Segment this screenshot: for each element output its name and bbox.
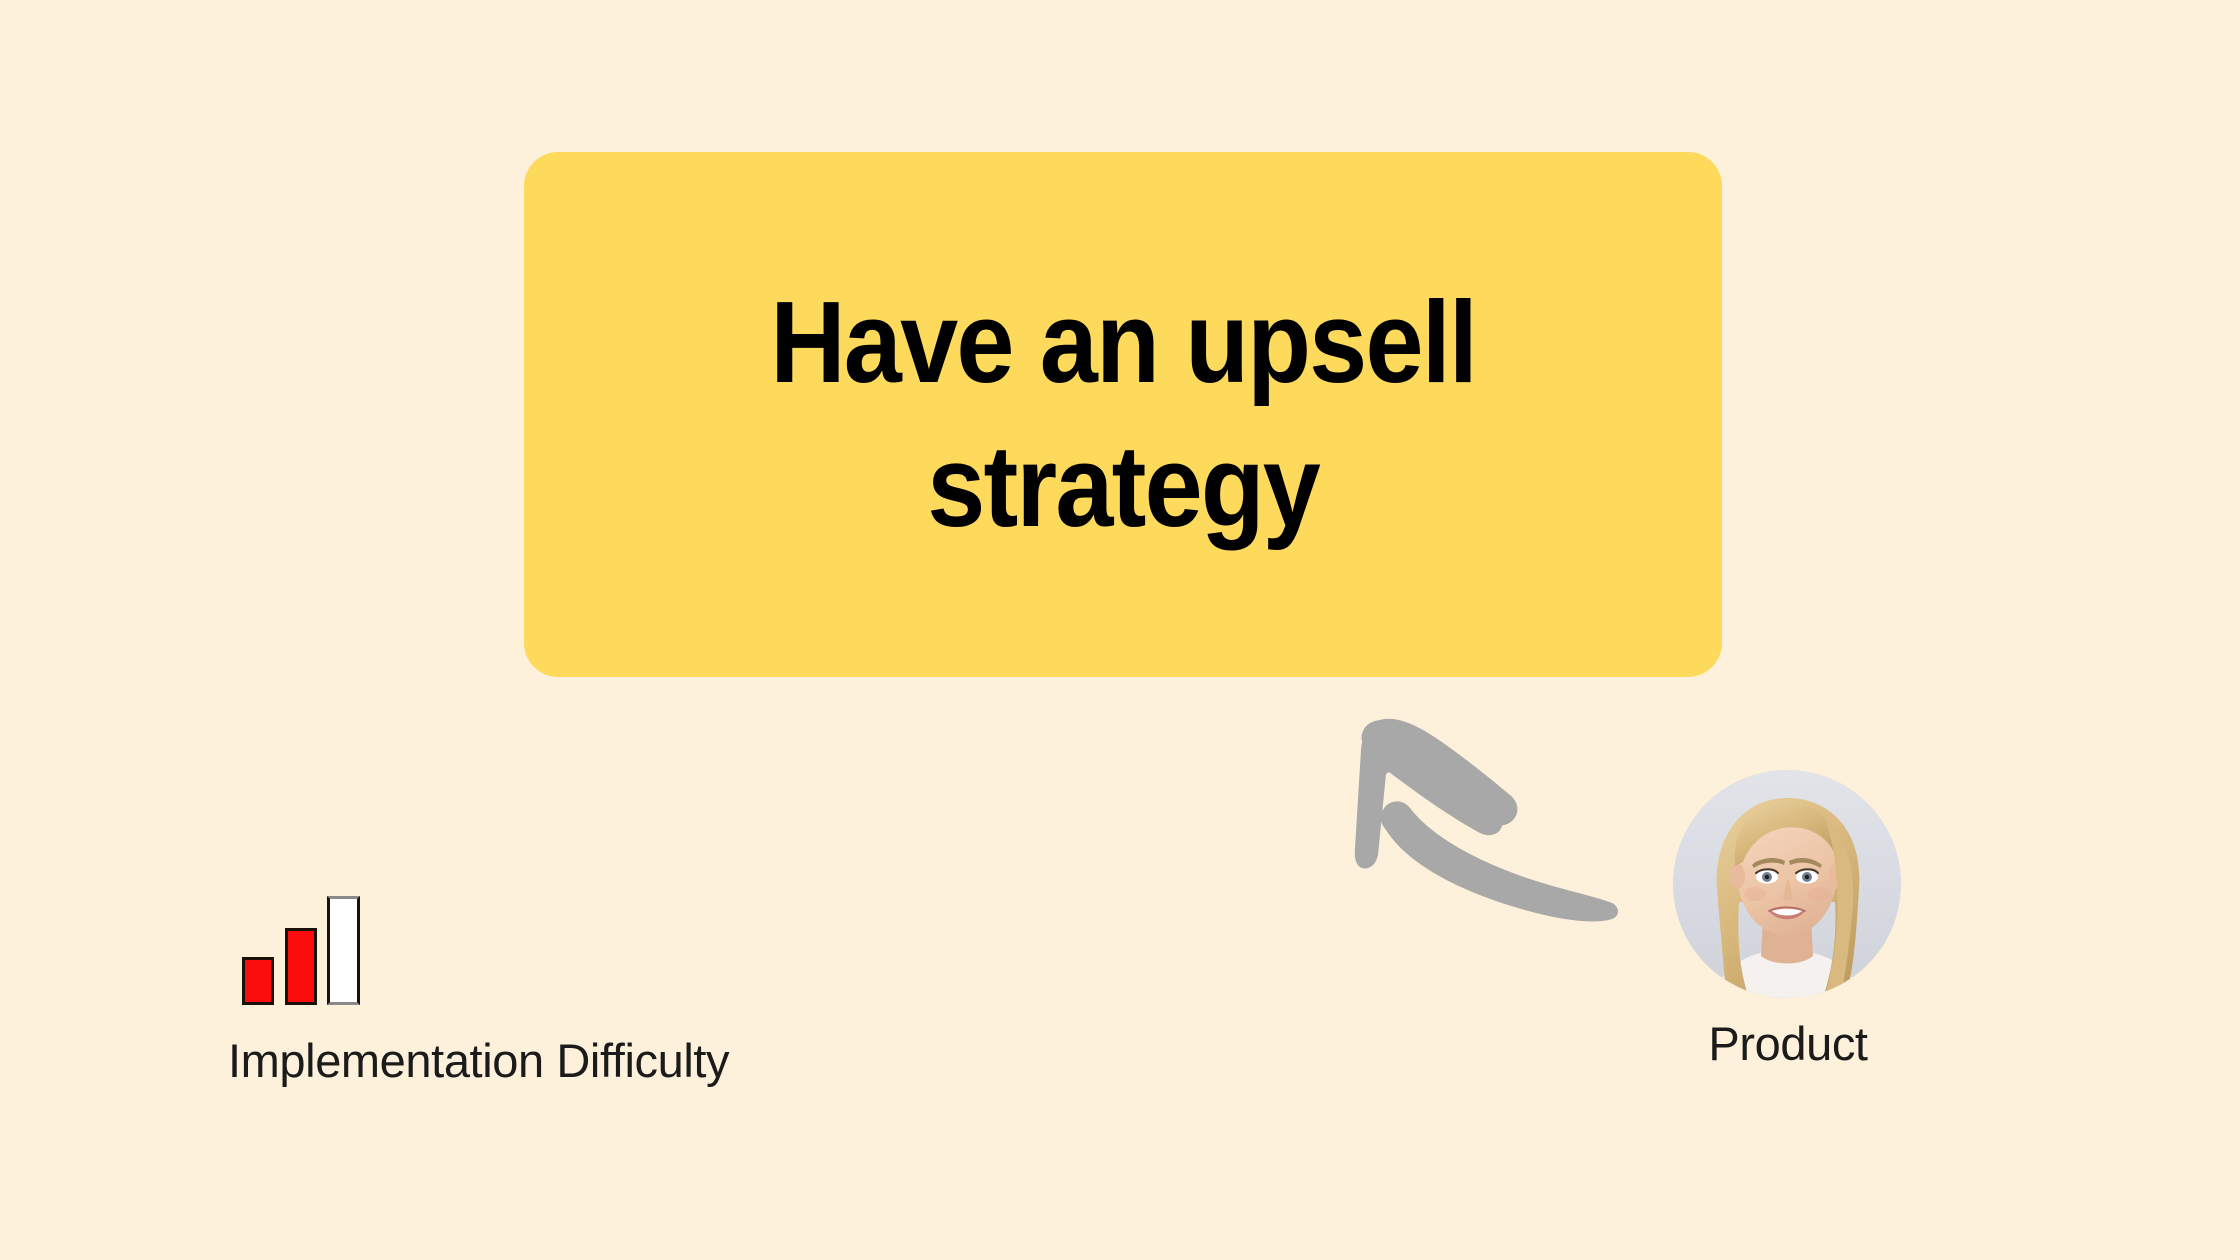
metric-implementation-difficulty: Implementation Difficulty bbox=[228, 885, 868, 1088]
owner-label: Product bbox=[1673, 1016, 1903, 1071]
difficulty-bar-3 bbox=[327, 896, 360, 1005]
signal-bars-icon bbox=[228, 885, 373, 1005]
headline-card: Have an upsell strategy bbox=[524, 152, 1722, 677]
slide-canvas: Have an upsell strategy Implementation D… bbox=[0, 0, 2240, 1260]
difficulty-bar-2 bbox=[285, 928, 317, 1005]
page-title: Have an upsell strategy bbox=[770, 271, 1476, 559]
avatar bbox=[1673, 770, 1901, 998]
difficulty-label: Implementation Difficulty bbox=[228, 1033, 868, 1088]
curved-arrow-icon bbox=[1340, 700, 1630, 930]
metric-owner: Product bbox=[1673, 770, 1903, 1071]
difficulty-bar-1 bbox=[242, 957, 274, 1005]
